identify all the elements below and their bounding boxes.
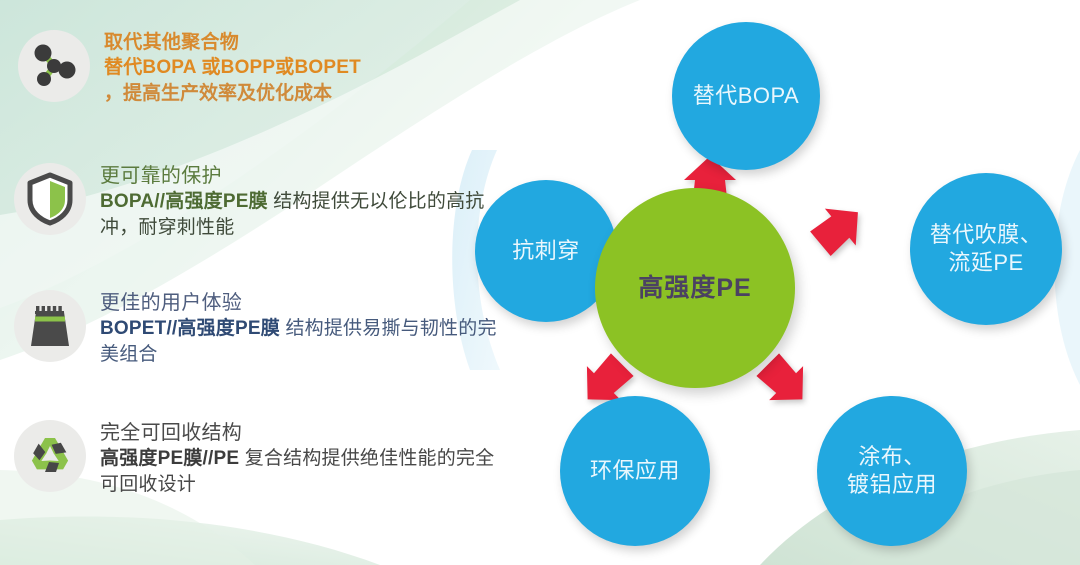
pouch-icon-glyph <box>24 299 76 353</box>
molecule-icon-glyph <box>27 39 81 93</box>
feature-title: 完全可回收结构 <box>100 420 500 446</box>
feature-text: 更佳的用户体验 BOPET//高强度PE膜 结构提供易撕与韧性的完美组合 <box>100 290 500 367</box>
feature-body: 高强度PE膜//PE 复合结构提供绝佳性能的完全可回收设计 <box>100 446 500 497</box>
feature-body-line1: 替代BOPA 或BOPP或BOPET <box>104 55 361 80</box>
feature-body-bold: BOPET//高强度PE膜 <box>100 318 280 339</box>
feature-body-bold: 高强度PE膜//PE <box>100 448 239 469</box>
diagram-node-coating-metallizing[interactable]: 涂布、 镀铝应用 <box>817 396 967 546</box>
diagram-node-replace-blown-cast-pe[interactable]: 替代吹膜、 流延PE <box>910 173 1062 325</box>
shield-icon-glyph <box>25 172 75 226</box>
radial-diagram: 替代BOPA 替代吹膜、 流延PE 涂布、 镀铝应用 环保应用 抗刺穿 高强度P… <box>455 0 1080 565</box>
diagram-node-center-high-strength-pe[interactable]: 高强度PE <box>595 188 795 388</box>
feature-body-bold: BOPA//高强度PE膜 <box>100 191 268 212</box>
feature-list: 取代其他聚合物 替代BOPA 或BOPP或BOPET ，提高生产效率及优化成本 … <box>0 0 500 565</box>
feature-body-line2: ，提高生产效率及优化成本 <box>104 81 361 106</box>
feature-item-recyclable: 完全可回收结构 高强度PE膜//PE 复合结构提供绝佳性能的完全可回收设计 <box>14 420 500 497</box>
feature-body: BOPA//高强度PE膜 结构提供无以伦比的高抗冲，耐穿刺性能 <box>100 189 500 240</box>
infographic-canvas: 取代其他聚合物 替代BOPA 或BOPP或BOPET ，提高生产效率及优化成本 … <box>0 0 1080 565</box>
center-node-label: 高强度PE <box>638 272 751 304</box>
feature-item-replace-polymers: 取代其他聚合物 替代BOPA 或BOPP或BOPET ，提高生产效率及优化成本 <box>18 30 361 106</box>
molecule-icon <box>18 30 90 102</box>
feature-text: 更可靠的保护 BOPA//高强度PE膜 结构提供无以伦比的高抗冲，耐穿刺性能 <box>100 163 500 240</box>
pouch-icon <box>14 290 86 362</box>
node-label: 替代吹膜、 流延PE <box>930 221 1043 277</box>
feature-title: 取代其他聚合物 <box>104 30 361 55</box>
feature-body: BOPET//高强度PE膜 结构提供易撕与韧性的完美组合 <box>100 316 500 367</box>
feature-text: 完全可回收结构 高强度PE膜//PE 复合结构提供绝佳性能的完全可回收设计 <box>100 420 500 497</box>
node-label: 环保应用 <box>590 457 680 485</box>
diagram-node-replace-bopa[interactable]: 替代BOPA <box>672 22 820 170</box>
arrow-down-right-icon <box>755 352 813 410</box>
diagram-node-eco-application[interactable]: 环保应用 <box>560 396 710 546</box>
feature-title: 更可靠的保护 <box>100 163 500 189</box>
feature-item-user-experience: 更佳的用户体验 BOPET//高强度PE膜 结构提供易撕与韧性的完美组合 <box>14 290 500 367</box>
node-label: 抗刺穿 <box>512 237 580 265</box>
feature-item-protection: 更可靠的保护 BOPA//高强度PE膜 结构提供无以伦比的高抗冲，耐穿刺性能 <box>14 163 500 240</box>
shield-icon <box>14 163 86 235</box>
recycle-icon-glyph <box>22 428 78 484</box>
feature-text: 取代其他聚合物 替代BOPA 或BOPP或BOPET ，提高生产效率及优化成本 <box>104 30 361 106</box>
arrow-up-right-icon <box>809 200 867 258</box>
node-label: 替代BOPA <box>693 82 800 110</box>
node-label: 涂布、 镀铝应用 <box>847 443 937 499</box>
feature-title: 更佳的用户体验 <box>100 290 500 316</box>
recycle-icon <box>14 420 86 492</box>
